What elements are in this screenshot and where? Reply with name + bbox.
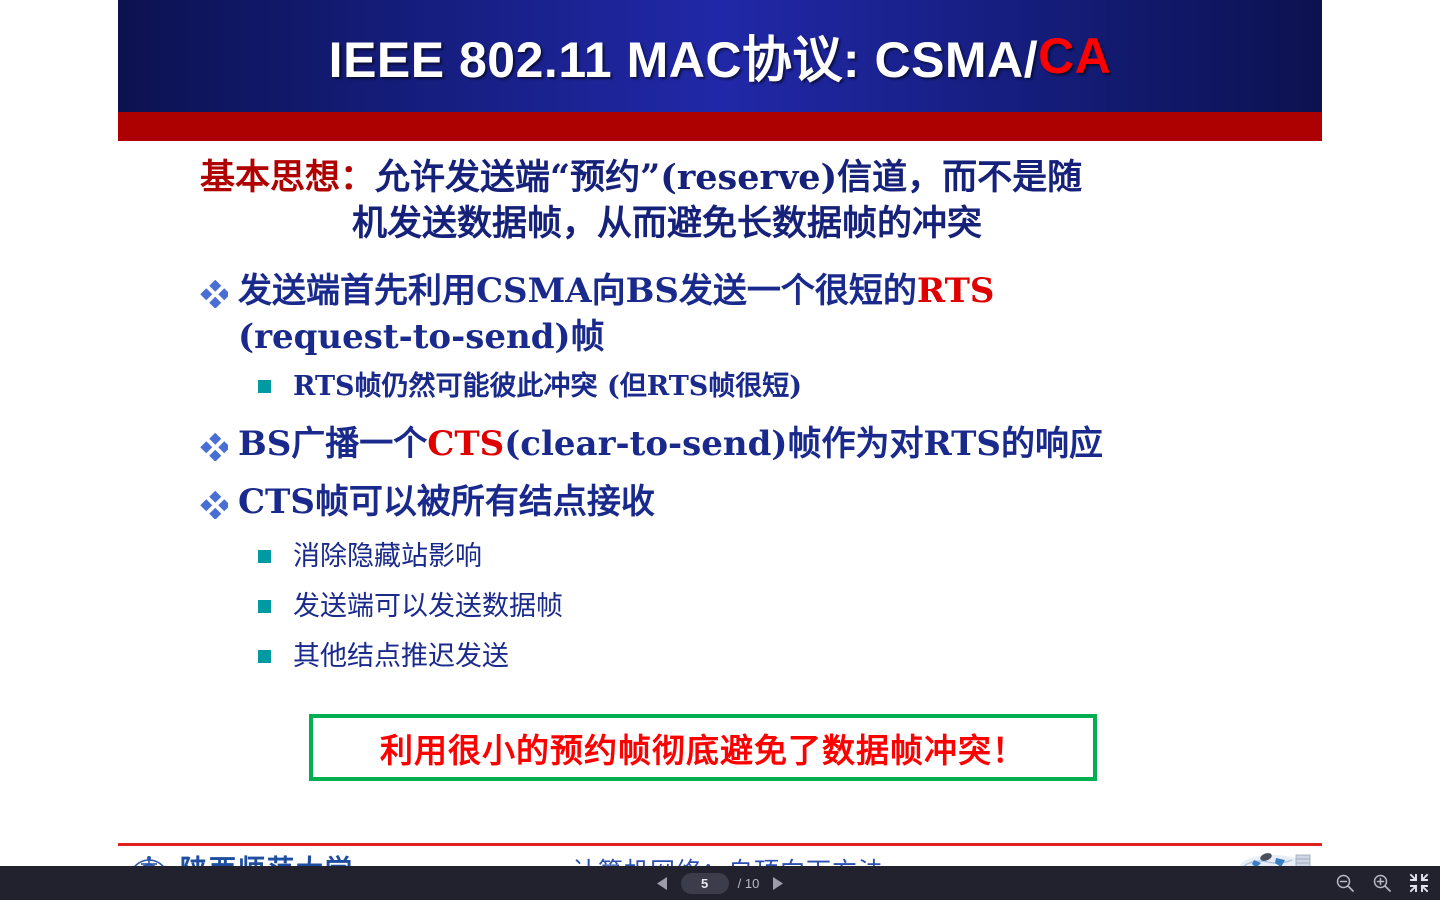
page-navigation: 5 / 10 [654,873,787,894]
diamond-cluster-bullet-icon [200,428,238,474]
lead-paragraph: 基本思想：允许发送端“预约”(reserve)信道，而不是随 机发送数据帧，从而… [200,155,1240,247]
bullet-item-6-text: 发送端可以发送数据帧 [293,589,1158,624]
zoom-in-icon[interactable] [1371,872,1393,894]
bullet-3-seg-0: BS广播一个 [238,424,427,464]
lead-line-2: 机发送数据帧，从而避免长数据帧的冲突 [200,201,1240,247]
diamond-cluster-bullet-icon [200,486,238,532]
viewer-toolbar: 5 / 10 [0,866,1440,900]
viewer-tools [1334,866,1430,900]
bullet-3-seg-2: (clear-to-send)帧作为对RTS的响应 [504,424,1103,464]
bullet-item-3: BS广播一个CTS(clear-to-send)帧作为对RTS的响应 [200,422,1260,468]
bullet-item-1: 发送端首先利用CSMA向BS发送一个很短的RTS (request-to-sen… [200,269,1260,361]
callout-box: 利用很小的预约帧彻底避免了数据帧冲突！ [309,714,1097,781]
bullet-item-6: 发送端可以发送数据帧 [258,589,1158,624]
previous-page-icon[interactable] [654,874,672,892]
bullet-item-2-text: RTS帧仍然可能彼此冲突 (但RTS帧很短) [293,369,1158,404]
diamond-cluster-bullet-icon [200,275,238,321]
fit-to-screen-icon[interactable] [1408,872,1430,894]
title-red-divider [118,112,1322,141]
bullet-item-4: CTS帧可以被所有结点接收 [200,480,1260,526]
next-page-icon[interactable] [768,874,786,892]
square-bullet-icon [258,650,293,663]
lead-label: 基本思想： [200,157,375,198]
bullet-item-1-text: 发送端首先利用CSMA向BS发送一个很短的RTS (request-to-sen… [238,269,1260,361]
square-bullet-icon [258,380,293,393]
square-bullet-icon [258,550,293,563]
slide-canvas: IEEE 802.11 MAC协议: CSMA/CA 基本思想：允许发送端“预约… [118,0,1322,880]
slide-title: IEEE 802.11 MAC协议: CSMA/CA [118,0,1322,112]
square-bullet-icon [258,600,293,613]
slide-body: 基本思想：允许发送端“预约”(reserve)信道，而不是随 机发送数据帧，从而… [118,141,1322,831]
slide-title-accent: CA [1038,27,1111,85]
bullet-3-seg-1: CTS [427,424,504,464]
lead-line-1-text: 允许发送端“预约”(reserve)信道，而不是随 [375,157,1082,198]
zoom-out-icon[interactable] [1334,872,1356,894]
lead-line-1: 基本思想：允许发送端“预约”(reserve)信道，而不是随 [200,155,1240,201]
bullet-item-7: 其他结点推迟发送 [258,639,1158,674]
slide-title-main: IEEE 802.11 MAC协议: CSMA/ [329,20,1038,92]
bullet-1-seg-0: 发送端首先利用CSMA向BS发送一个很短的 [238,271,917,311]
bullet-item-4-text: CTS帧可以被所有结点接收 [238,480,1260,526]
callout-text: 利用很小的预约帧彻底避免了数据帧冲突！ [380,724,1026,772]
current-page-input[interactable]: 5 [681,873,729,894]
presentation-viewer: IEEE 802.11 MAC协议: CSMA/CA 基本思想：允许发送端“预约… [0,0,1440,900]
total-page-count: / 10 [738,876,760,891]
bullet-item-7-text: 其他结点推迟发送 [293,639,1158,674]
bullet-item-2: RTS帧仍然可能彼此冲突 (但RTS帧很短) [258,369,1158,404]
bullet-item-5-text: 消除隐藏站影响 [293,539,1158,574]
bullet-item-5: 消除隐藏站影响 [258,539,1158,574]
bullet-1-seg-1: RTS [917,271,995,311]
bullet-item-3-text: BS广播一个CTS(clear-to-send)帧作为对RTS的响应 [238,422,1260,468]
bullet-1-line-2: (request-to-send)帧 [238,317,605,357]
